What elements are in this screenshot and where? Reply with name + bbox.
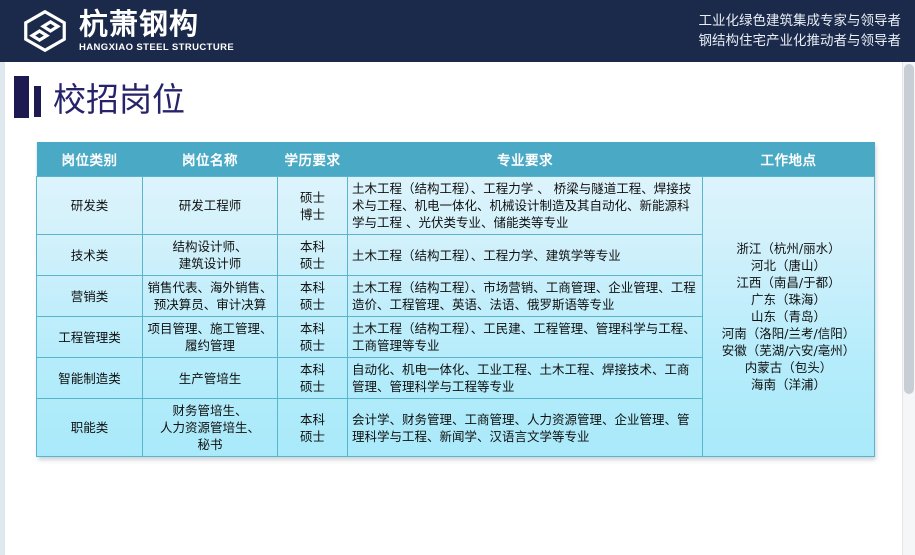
cell-education: 本科硕士 xyxy=(278,276,348,317)
cell-job-category: 技术类 xyxy=(37,235,143,276)
title-accent-bar-thick xyxy=(14,76,29,118)
page-title-row: 校招岗位 xyxy=(14,76,185,118)
cell-major-requirement: 会计学、财务管理、工商管理、人力资源管理、企业管理、管理科学与工程、新闻学、汉语… xyxy=(348,399,703,457)
brand-name-en: HANGXIAO STEEL STRUCTURE xyxy=(79,43,234,53)
cell-work-locations: 浙江（杭州/丽水）河北（唐山）江西（南昌/于都）广东（珠海）山东（青岛）河南（洛… xyxy=(703,177,875,457)
cell-major-requirement: 土木工程（结构工程）、工民建、工程管理、管理科学与工程、工商管理等专业 xyxy=(348,317,703,358)
work-location-item: 内蒙古（包头） xyxy=(707,359,870,376)
tagline-line-2: 钢结构住宅产业化推动者与领导者 xyxy=(699,31,902,51)
work-location-item: 浙江（杭州/丽水） xyxy=(707,240,870,257)
work-location-item: 江西（南昌/于都） xyxy=(707,274,870,291)
work-location-item: 广东（珠海） xyxy=(707,291,870,308)
work-location-item: 安徽（芜湖/六安/亳州） xyxy=(707,342,870,359)
work-location-item: 河北（唐山） xyxy=(707,257,870,274)
cell-job-position: 财务管培生、人力资源管培生、秘书 xyxy=(143,399,278,457)
cell-major-requirement: 自动化、机电一体化、工业工程、土木工程、焊接技术、工商管理、管理科学与工程等专业 xyxy=(348,358,703,399)
cell-major-requirement: 土木工程（结构工程）、工程力学 、 桥梁与隧道工程、焊接技术与工程、机电一体化、… xyxy=(348,177,703,235)
cell-job-category: 研发类 xyxy=(37,177,143,235)
work-location-item: 河南（洛阳/兰考/信阳） xyxy=(707,325,870,342)
cell-job-position: 项目管理、施工管理、履约管理 xyxy=(143,317,278,358)
cell-major-requirement: 土木工程（结构工程）、市场营销、工商管理、企业管理、工程造价、工程管理、英语、法… xyxy=(348,276,703,317)
page-title: 校招岗位 xyxy=(53,82,185,118)
cell-education: 本科硕士 xyxy=(278,317,348,358)
cell-job-category: 职能类 xyxy=(37,399,143,457)
cell-job-category: 工程管理类 xyxy=(37,317,143,358)
cell-job-position: 生产管培生 xyxy=(143,358,278,399)
brand-logo-group: 杭萧钢构 HANGXIAO STEEL STRUCTURE xyxy=(22,9,234,53)
column-header-location: 工作地点 xyxy=(703,142,875,177)
cell-education: 本科硕士 xyxy=(278,399,348,457)
brand-header-bar: 杭萧钢构 HANGXIAO STEEL STRUCTURE 工业化绿色建筑集成专… xyxy=(0,0,915,62)
table-header-row: 岗位类别 岗位名称 学历要求 专业要求 工作地点 xyxy=(37,142,875,177)
cell-education: 本科硕士 xyxy=(278,358,348,399)
column-header-education: 学历要求 xyxy=(278,142,348,177)
column-header-major: 专业要求 xyxy=(348,142,703,177)
cell-job-category: 营销类 xyxy=(37,276,143,317)
tagline-line-1: 工业化绿色建筑集成专家与领导者 xyxy=(699,11,902,31)
cell-job-position: 销售代表、海外销售、预决算员、审计决算 xyxy=(143,276,278,317)
cell-job-category: 智能制造类 xyxy=(37,358,143,399)
campus-recruitment-table: 岗位类别 岗位名称 学历要求 专业要求 工作地点 研发类研发工程师硕士博士土木工… xyxy=(36,142,875,457)
cell-job-position: 研发工程师 xyxy=(143,177,278,235)
hexagon-interlock-logo-icon xyxy=(22,9,68,53)
work-location-item: 山东（青岛） xyxy=(707,308,870,325)
title-accent-bar-thin xyxy=(34,86,41,117)
column-header-position: 岗位名称 xyxy=(143,142,278,177)
brand-name-cn: 杭萧钢构 xyxy=(79,10,234,39)
work-location-item: 海南（洋浦） xyxy=(707,376,870,393)
table-row: 研发类研发工程师硕士博士土木工程（结构工程）、工程力学 、 桥梁与隧道工程、焊接… xyxy=(37,177,875,235)
table-body: 研发类研发工程师硕士博士土木工程（结构工程）、工程力学 、 桥梁与隧道工程、焊接… xyxy=(37,177,875,457)
cell-job-position: 结构设计师、建筑设计师 xyxy=(143,235,278,276)
brand-tagline: 工业化绿色建筑集成专家与领导者 钢结构住宅产业化推动者与领导者 xyxy=(699,11,902,51)
cell-education: 本科硕士 xyxy=(278,235,348,276)
left-edge-strip xyxy=(0,62,5,555)
cell-major-requirement: 土木工程（结构工程）、工程力学、建筑学等专业 xyxy=(348,235,703,276)
column-header-category: 岗位类别 xyxy=(37,142,143,177)
cell-education: 硕士博士 xyxy=(278,177,348,235)
jobs-table-container: 岗位类别 岗位名称 学历要求 专业要求 工作地点 研发类研发工程师硕士博士土木工… xyxy=(36,142,874,457)
scrollbar-thumb[interactable] xyxy=(904,64,914,394)
brand-wordmark: 杭萧钢构 HANGXIAO STEEL STRUCTURE xyxy=(79,10,234,53)
